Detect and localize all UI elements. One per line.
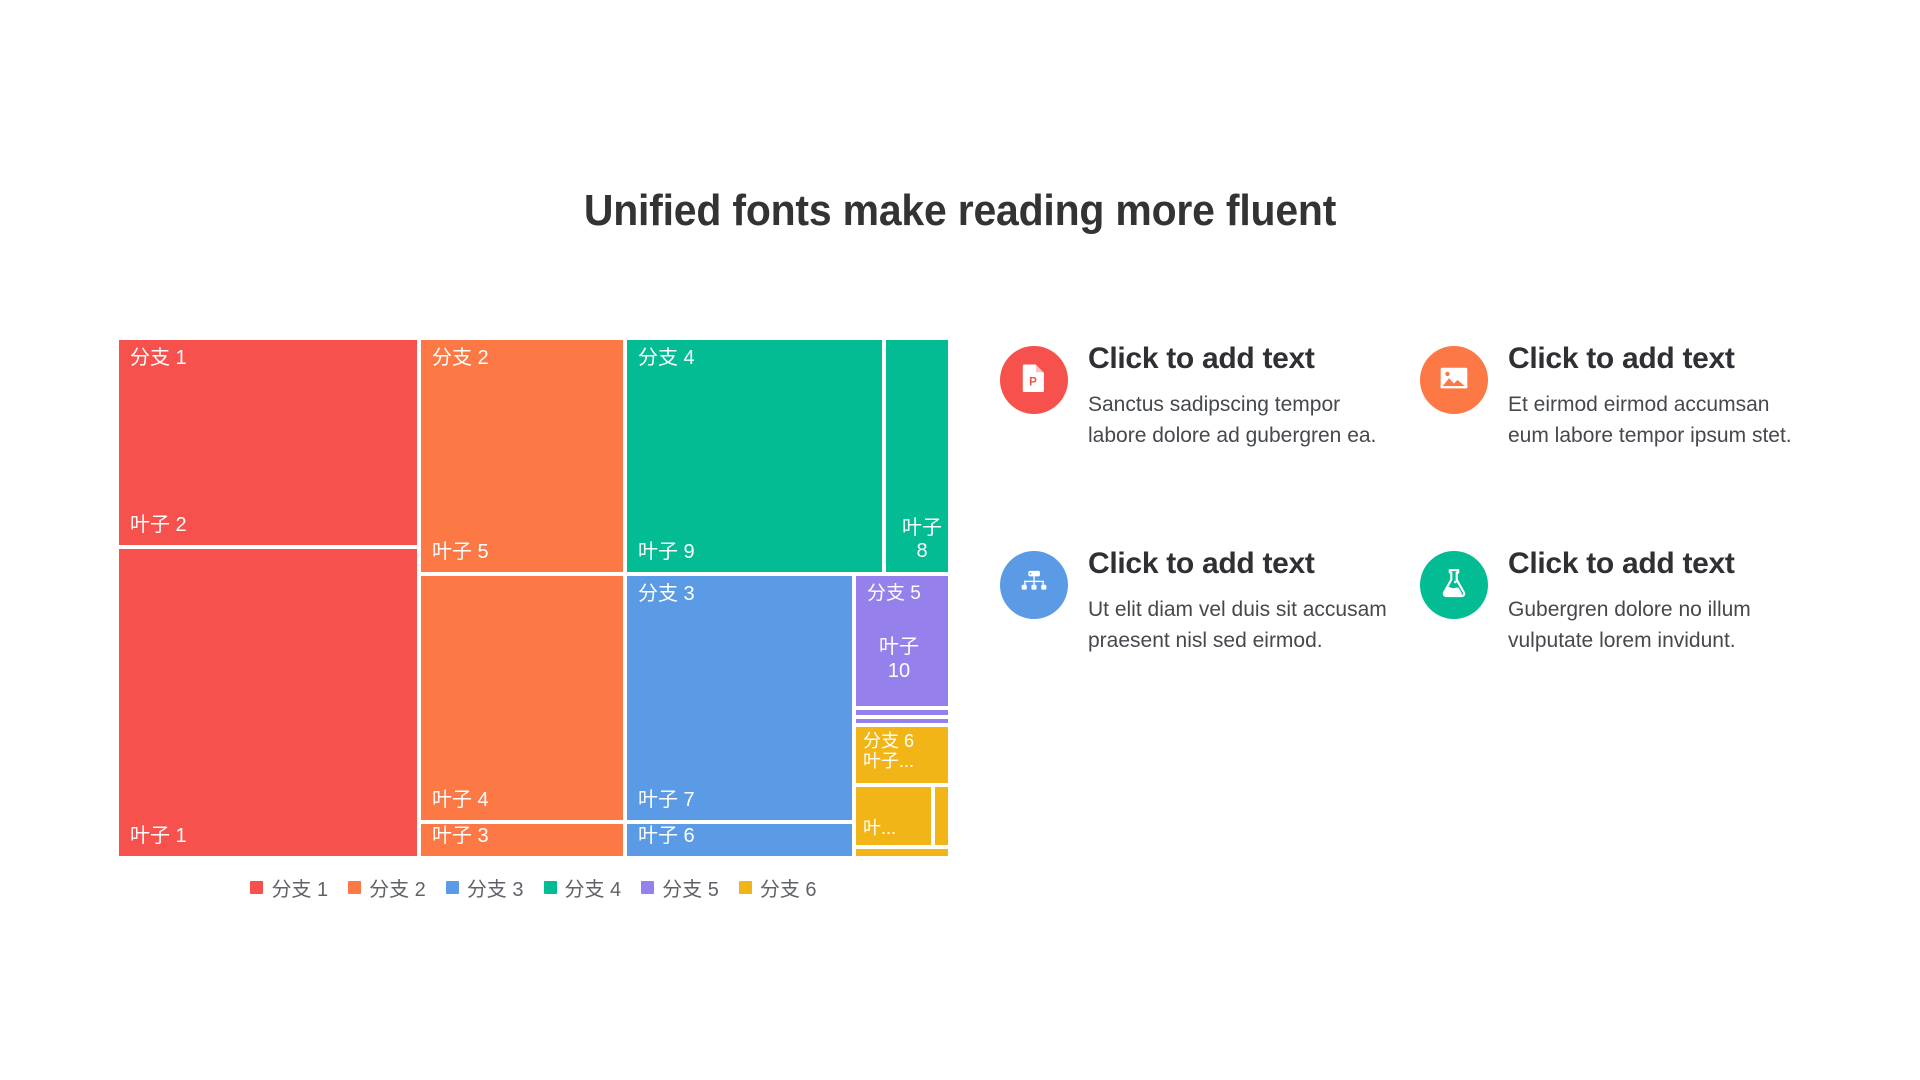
treemap-leaf-label: 叶子 2 xyxy=(130,514,187,538)
legend-swatch-icon xyxy=(739,881,752,894)
treemap-branch-label: 分支 2 xyxy=(432,347,489,371)
feature-item-2[interactable]: Click to add text Et eirmod eirmod accum… xyxy=(1420,342,1840,451)
treemap-leaf-label: 叶子 1 xyxy=(130,825,187,849)
treemap-cell-b2-leaf4[interactable]: 叶子 4 xyxy=(419,574,625,822)
treemap-leaf-label: 叶子 7 xyxy=(638,789,695,813)
feature-item-3[interactable]: Click to add text Ut elit diam vel duis … xyxy=(1000,547,1420,656)
treemap-leaf-label: 叶子 9 xyxy=(638,541,695,565)
feature-icon-badge-3 xyxy=(1000,551,1068,619)
powerpoint-file-icon: P xyxy=(1017,361,1051,400)
feature-text-block-2: Click to add text Et eirmod eirmod accum… xyxy=(1508,342,1840,451)
svg-text:P: P xyxy=(1029,375,1037,388)
legend-label: 分支 4 xyxy=(565,873,622,902)
treemap-branch-label: 分支 4 xyxy=(638,347,695,371)
treemap-cell-b2-leaf3[interactable]: 叶子 3 xyxy=(419,822,625,858)
treemap-cell-b6-sliver[interactable] xyxy=(933,785,950,847)
treemap-leaf-label: 叶子... xyxy=(863,751,914,772)
feature-icon-badge-2 xyxy=(1420,346,1488,414)
feature-text-block-4: Click to add text Gubergren dolore no il… xyxy=(1508,547,1840,656)
legend-swatch-icon xyxy=(348,881,361,894)
treemap-leaf-label: 叶子 3 xyxy=(432,825,489,849)
legend-item-branch-5[interactable]: 分支 5 xyxy=(641,873,719,902)
feature-body: Sanctus sadipscing tempor labore dolore … xyxy=(1088,389,1388,451)
org-chart-icon xyxy=(1017,566,1051,605)
feature-heading: Click to add text xyxy=(1508,547,1840,580)
treemap-cell-b4-leaf9[interactable]: 分支 4 叶子 9 xyxy=(625,338,884,574)
legend-swatch-icon xyxy=(446,881,459,894)
legend-swatch-icon xyxy=(250,881,263,894)
feature-text-block-3: Click to add text Ut elit diam vel duis … xyxy=(1088,547,1420,656)
legend-item-branch-4[interactable]: 分支 4 xyxy=(544,873,622,902)
treemap-cell-b5-leaf10[interactable]: 分支 5 叶子 10 xyxy=(854,574,950,708)
treemap-branch-label: 分支 6 xyxy=(863,731,914,752)
legend-label: 分支 2 xyxy=(369,873,426,902)
legend-item-branch-3[interactable]: 分支 3 xyxy=(446,873,524,902)
treemap-cell-b3-leaf7[interactable]: 分支 3 叶子 7 xyxy=(625,574,854,822)
treemap-leaf-label: 叶子 8 xyxy=(894,517,950,564)
treemap-cell-b1-leaf1[interactable]: 叶子 1 xyxy=(117,547,419,858)
feature-heading: Click to add text xyxy=(1088,342,1420,375)
legend-item-branch-2[interactable]: 分支 2 xyxy=(348,873,426,902)
treemap-branch-label: 分支 5 xyxy=(867,583,921,605)
treemap-legend: 分支 1 分支 2 分支 3 分支 4 分支 5 分支 6 xyxy=(117,873,950,902)
feature-icon-badge-1: P xyxy=(1000,346,1068,414)
feature-icon-badge-4 xyxy=(1420,551,1488,619)
treemap-cell-b6-strip[interactable] xyxy=(854,847,950,858)
flask-icon xyxy=(1437,566,1471,605)
treemap-leaf-label: 叶... xyxy=(863,818,896,839)
treemap-chart: 分支 1 叶子 2 叶子 1 分支 2 叶子 5 叶子 4 叶子 3 分支 4 … xyxy=(117,338,950,858)
legend-label: 分支 6 xyxy=(760,873,817,902)
feature-text-block-1: Click to add text Sanctus sadipscing tem… xyxy=(1088,342,1420,451)
treemap-branch-label: 分支 1 xyxy=(130,347,187,371)
feature-item-1[interactable]: P Click to add text Sanctus sadipscing t… xyxy=(1000,342,1420,451)
feature-body: Ut elit diam vel duis sit accusam praese… xyxy=(1088,594,1388,656)
legend-swatch-icon xyxy=(641,881,654,894)
treemap-cell-strip-1[interactable] xyxy=(854,708,950,717)
legend-item-branch-6[interactable]: 分支 6 xyxy=(739,873,817,902)
treemap-cell-strip-2[interactable] xyxy=(854,717,950,725)
treemap-leaf-label: 叶子 10 xyxy=(868,636,930,683)
page-title: Unified fonts make reading more fluent xyxy=(67,186,1853,236)
legend-swatch-icon xyxy=(544,881,557,894)
treemap-canvas: 分支 1 叶子 2 叶子 1 分支 2 叶子 5 叶子 4 叶子 3 分支 4 … xyxy=(117,338,950,858)
legend-label: 分支 1 xyxy=(271,873,328,902)
treemap-cell-b3-leaf6[interactable]: 叶子 6 xyxy=(625,822,854,858)
treemap-cell-b1-leaf2[interactable]: 分支 1 叶子 2 xyxy=(117,338,419,547)
feature-heading: Click to add text xyxy=(1088,547,1420,580)
feature-body: Et eirmod eirmod accumsan eum labore tem… xyxy=(1508,389,1798,451)
treemap-cell-b6-leafB[interactable]: 叶... xyxy=(854,785,933,847)
treemap-cell-b4-leaf8[interactable]: 叶子 8 xyxy=(884,338,950,574)
legend-label: 分支 5 xyxy=(662,873,719,902)
feature-heading: Click to add text xyxy=(1508,342,1840,375)
treemap-cell-b6-leafA[interactable]: 分支 6 叶子... xyxy=(854,725,950,785)
feature-body: Gubergren dolore no illum vulputate lore… xyxy=(1508,594,1798,656)
legend-item-branch-1[interactable]: 分支 1 xyxy=(250,873,328,902)
legend-label: 分支 3 xyxy=(467,873,524,902)
treemap-branch-label: 分支 3 xyxy=(638,583,695,607)
treemap-leaf-label: 叶子 6 xyxy=(638,825,695,849)
image-picture-icon xyxy=(1437,361,1471,400)
feature-grid: P Click to add text Sanctus sadipscing t… xyxy=(1000,342,1860,656)
treemap-cell-b2-leaf5[interactable]: 分支 2 叶子 5 xyxy=(419,338,625,574)
treemap-leaf-label: 叶子 5 xyxy=(432,541,489,565)
treemap-leaf-label: 叶子 4 xyxy=(432,789,489,813)
feature-item-4[interactable]: Click to add text Gubergren dolore no il… xyxy=(1420,547,1840,656)
